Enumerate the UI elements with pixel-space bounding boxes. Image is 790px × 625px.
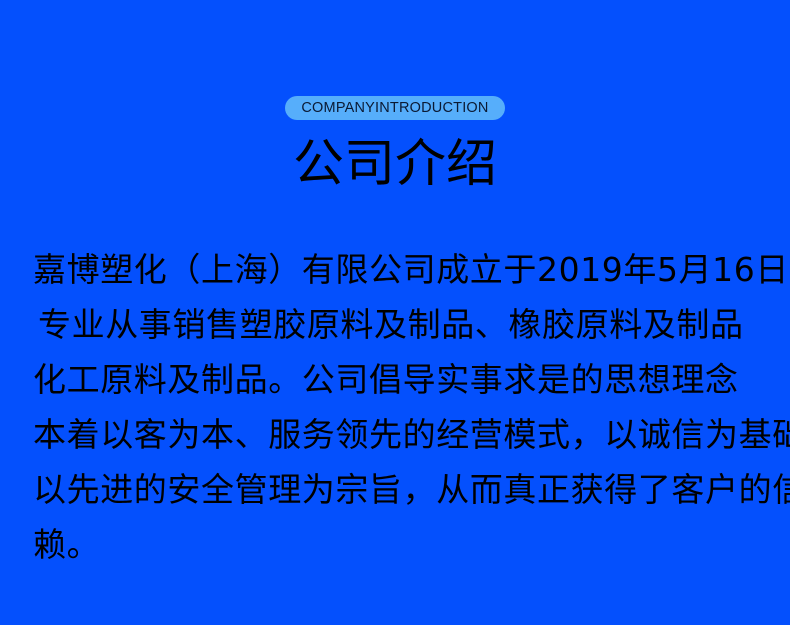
page-title: 公司介绍 — [0, 134, 790, 196]
paragraph-line: 嘉博塑化（上海）有限公司成立于2019年5月16日 — [33, 242, 763, 297]
paragraph-line: 化工原料及制品。公司倡导实事求是的思想理念 — [33, 352, 763, 407]
company-introduction-page: COMPANYINTRODUCTION 公司介绍 嘉博塑化（上海）有限公司成立于… — [0, 0, 790, 625]
introduction-paragraph: 嘉博塑化（上海）有限公司成立于2019年5月16日 专业从事销售塑胶原料及制品、… — [33, 242, 763, 572]
paragraph-line: 本着以客为本、服务领先的经营模式，以诚信为基础 — [33, 407, 763, 462]
badge-row: COMPANYINTRODUCTION — [0, 96, 790, 120]
paragraph-line: 以先进的安全管理为宗旨，从而真正获得了客户的信 — [33, 462, 763, 517]
paragraph-line: 专业从事销售塑胶原料及制品、橡胶原料及制品 — [33, 297, 763, 352]
section-badge: COMPANYINTRODUCTION — [285, 96, 504, 120]
paragraph-line: 赖。 — [33, 517, 763, 572]
